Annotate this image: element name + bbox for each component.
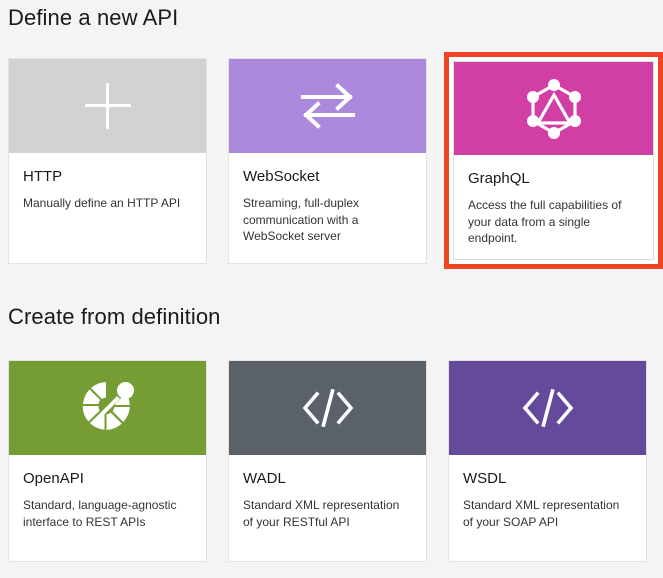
graphql-card-body: GraphQL Access the full capabilities of … [454, 155, 653, 247]
code-brackets-icon [520, 387, 576, 429]
define-api-page: Define a new API HTTP Manually define an… [0, 0, 663, 578]
section-heading-define-a-new-api: Define a new API [8, 4, 178, 32]
openapi-card-banner [9, 361, 206, 455]
websocket-card-banner [229, 59, 426, 153]
api-type-card-graphql[interactable]: GraphQL Access the full capabilities of … [453, 61, 654, 260]
http-card-banner [9, 59, 206, 153]
wadl-card-body: WADL Standard XML representation of your… [229, 455, 426, 530]
api-type-card-openapi[interactable]: OpenAPI Standard, language-agnostic inte… [8, 360, 207, 562]
graphql-logo-icon [525, 79, 583, 139]
http-card-title: HTTP [23, 167, 192, 186]
wadl-card-description: Standard XML representation of your REST… [243, 497, 412, 530]
websocket-card-title: WebSocket [243, 167, 412, 186]
openapi-logo-icon [80, 380, 136, 436]
websocket-card-description: Streaming, full-duplex communication wit… [243, 195, 412, 245]
code-brackets-icon [300, 387, 356, 429]
wsdl-card-banner [449, 361, 646, 455]
openapi-card-description: Standard, language-agnostic interface to… [23, 497, 192, 530]
wsdl-card-description: Standard XML representation of your SOAP… [463, 497, 632, 530]
graphql-card-banner [454, 62, 653, 155]
wadl-card-banner [229, 361, 426, 455]
http-card-body: HTTP Manually define an HTTP API [9, 153, 206, 212]
graphql-card-description: Access the full capabilities of your dat… [468, 197, 639, 247]
api-type-card-wadl[interactable]: WADL Standard XML representation of your… [228, 360, 427, 562]
openapi-card-body: OpenAPI Standard, language-agnostic inte… [9, 455, 206, 530]
wsdl-card-title: WSDL [463, 469, 632, 488]
wsdl-card-body: WSDL Standard XML representation of your… [449, 455, 646, 530]
section-heading-create-from-definition: Create from definition [8, 303, 221, 331]
bidirectional-arrows-icon [298, 83, 358, 129]
openapi-card-title: OpenAPI [23, 469, 192, 488]
websocket-card-body: WebSocket Streaming, full-duplex communi… [229, 153, 426, 245]
graphql-card-title: GraphQL [468, 169, 639, 188]
plus-icon [85, 83, 131, 129]
api-type-card-wsdl[interactable]: WSDL Standard XML representation of your… [448, 360, 647, 562]
http-card-description: Manually define an HTTP API [23, 195, 192, 212]
api-type-card-websocket[interactable]: WebSocket Streaming, full-duplex communi… [228, 58, 427, 264]
wadl-card-title: WADL [243, 469, 412, 488]
api-type-card-http[interactable]: HTTP Manually define an HTTP API [8, 58, 207, 264]
